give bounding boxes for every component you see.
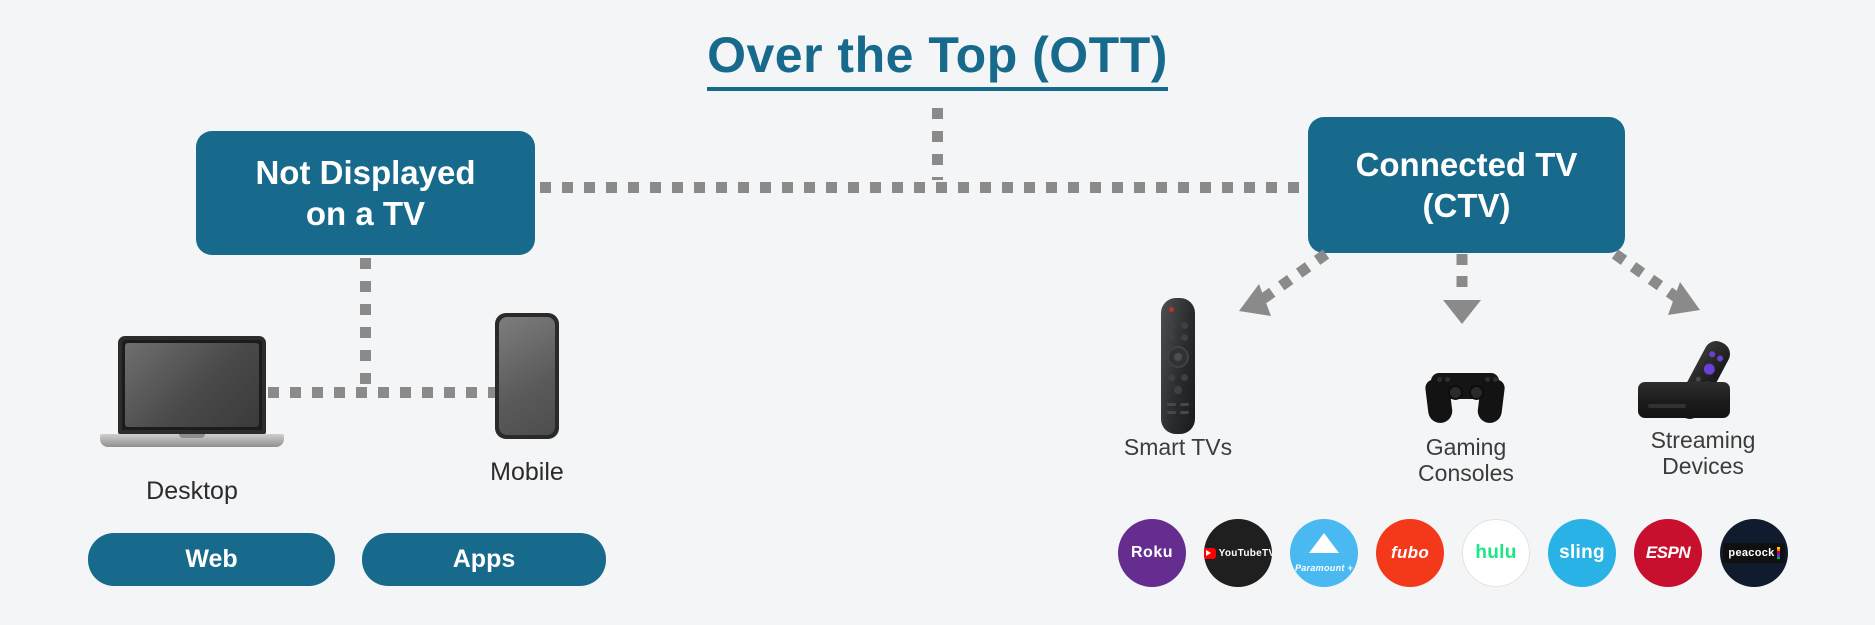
laptop-trackpad-notch (179, 434, 205, 438)
brand-logo-hulu[interactable]: hulu (1462, 519, 1530, 587)
brand-logo-espn[interactable]: ESPN (1634, 519, 1702, 587)
tv-remote-key (1174, 386, 1182, 394)
brand-logo-fubo[interactable]: fubo (1376, 519, 1444, 587)
node-not-displayed-on-tv[interactable]: Not Displayed on a TV (196, 131, 535, 255)
connector-title-stub (932, 108, 943, 180)
brand-logo-paramount-plus-label: Paramount + (1290, 563, 1358, 573)
streaming-box-icon (1638, 340, 1768, 432)
controller-grip-left (1424, 378, 1453, 425)
controller-stick-right (1469, 385, 1484, 400)
controller-stick-left (1448, 385, 1463, 400)
node-connected-tv-line2: (CTV) (1356, 185, 1578, 226)
tv-remote-key (1168, 374, 1175, 381)
laptop-screen (125, 343, 259, 427)
tv-remote-key (1168, 334, 1175, 341)
node-not-displayed-line1: Not Displayed (255, 152, 475, 193)
arrow-to-gaming-consoles-head (1443, 300, 1481, 324)
label-gaming-consoles-line2: Consoles (1366, 461, 1566, 487)
laptop-lid (118, 336, 266, 434)
connector-left-vertical (360, 258, 371, 388)
tv-remote-power-button (1169, 307, 1174, 312)
tv-remote-bar (1180, 411, 1189, 414)
peacock-feather-icon (1777, 547, 1780, 559)
brand-logo-row: Roku YouTubeTV Paramount + fubo hulu sli… (1118, 519, 1858, 601)
node-connected-tv-label: Connected TV (CTV) (1356, 144, 1578, 227)
peacock-plate: peacock (1723, 543, 1784, 563)
arrow-to-streaming-devices (1608, 248, 1718, 328)
controller-dpad-dot (1437, 377, 1442, 382)
streaming-remote-button (1716, 354, 1724, 362)
node-connected-tv-line1: Connected TV (1356, 144, 1578, 185)
label-desktop: Desktop (92, 477, 292, 505)
connector-main-rail (540, 182, 1310, 193)
tv-remote-dpad (1167, 346, 1189, 368)
paramount-mountain-icon (1309, 533, 1339, 553)
tv-remote-key (1181, 322, 1188, 329)
label-smart-tvs: Smart TVs (1078, 435, 1278, 461)
pill-web-label: Web (185, 545, 237, 574)
laptop-base (100, 434, 284, 447)
streaming-box-body (1638, 382, 1730, 418)
arrow-to-gaming-consoles (1437, 252, 1497, 336)
tv-remote-key (1181, 374, 1188, 381)
brand-logo-fubo-label: fubo (1391, 543, 1429, 563)
controller-button-dot (1493, 377, 1498, 382)
label-streaming-devices: Streaming Devices (1603, 428, 1803, 480)
connector-left-devices-rail (268, 387, 500, 398)
smartphone-icon (495, 313, 559, 439)
streaming-remote-dpad (1702, 362, 1717, 377)
tv-remote-icon (1161, 298, 1195, 434)
tv-remote-key (1168, 322, 1175, 329)
page-title-text: Over the Top (OTT) (707, 27, 1168, 91)
brand-logo-roku-label: Roku (1131, 544, 1173, 562)
brand-logo-youtube-tv[interactable]: YouTubeTV (1204, 519, 1272, 587)
pill-web[interactable]: Web (88, 533, 335, 586)
brand-logo-sling[interactable]: sling (1548, 519, 1616, 587)
controller-dpad-dot (1445, 377, 1450, 382)
streaming-remote-button (1708, 350, 1716, 358)
brand-logo-hulu-label: hulu (1475, 542, 1516, 564)
youtube-play-icon (1204, 548, 1216, 559)
page-title: Over the Top (OTT) (0, 26, 1875, 84)
brand-logo-sling-label: sling (1559, 542, 1605, 564)
tv-remote-bar (1180, 403, 1189, 406)
brand-logo-paramount-plus[interactable]: Paramount + (1290, 519, 1358, 587)
brand-logo-peacock-label: peacock (1728, 547, 1774, 559)
node-connected-tv[interactable]: Connected TV (CTV) (1308, 117, 1625, 253)
tv-remote-body (1161, 298, 1195, 434)
brand-logo-youtube-tv-label: YouTubeTV (1219, 548, 1272, 559)
arrow-to-smart-tvs (1223, 248, 1333, 328)
brand-logo-peacock[interactable]: peacock (1720, 519, 1788, 587)
streaming-box-label-strip (1648, 404, 1686, 408)
label-streaming-devices-line2: Devices (1603, 454, 1803, 480)
label-gaming-consoles: Gaming Consoles (1366, 435, 1566, 487)
tv-remote-bar (1167, 403, 1176, 406)
label-streaming-devices-line1: Streaming (1603, 428, 1803, 454)
label-gaming-consoles-line1: Gaming (1366, 435, 1566, 461)
game-controller-icon (1415, 355, 1515, 425)
brand-logo-espn-label: ESPN (1646, 543, 1690, 563)
pill-apps[interactable]: Apps (362, 533, 606, 586)
smartphone-screen (499, 317, 555, 435)
pill-apps-label: Apps (453, 545, 516, 574)
ott-diagram: Over the Top (OTT) Not Displayed on a TV… (0, 0, 1875, 625)
label-mobile: Mobile (427, 458, 627, 486)
controller-button-dot (1485, 377, 1490, 382)
node-not-displayed-line2: on a TV (255, 193, 475, 234)
brand-logo-roku[interactable]: Roku (1118, 519, 1186, 587)
smartphone-body (495, 313, 559, 439)
tv-remote-key (1181, 334, 1188, 341)
laptop-icon (100, 336, 284, 451)
node-not-displayed-label: Not Displayed on a TV (255, 152, 475, 235)
controller-grip-right (1476, 378, 1505, 425)
tv-remote-bar (1167, 411, 1176, 414)
